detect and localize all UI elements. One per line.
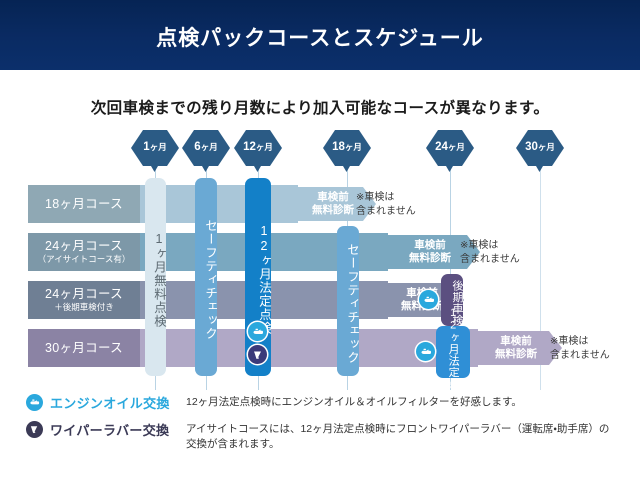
course-note-18m: ※車検は 含まれません — [356, 191, 416, 218]
month-marker-stem-1 — [151, 166, 158, 172]
oil-can-icon-12m — [248, 322, 267, 341]
month-marker-stem-12 — [254, 166, 261, 172]
month-marker-30: 30ヶ月 — [516, 130, 564, 166]
month-marker-stem-24 — [446, 166, 453, 172]
subtitle-text: 次回車検までの残り月数により加入可能なコースが異なります。 — [0, 96, 640, 118]
oil-can-icon-24m — [419, 290, 438, 309]
legend-row-engine-oil: エンジンオイル交換 12ヶ月法定点検時にエンジンオイル＆オイルフィルターを好感し… — [26, 393, 626, 413]
legend-desc-wiper-blade: アイサイトコースには、12ヶ月法定点検時にフロントワイパーラバー（運転席・助手席… — [186, 422, 616, 452]
course-note-30m: ※車検は 含まれません — [550, 335, 610, 362]
pill-24m-statutory-inspection: 12ヶ月法定点検 — [436, 326, 470, 378]
month-marker-stem-30 — [536, 166, 543, 172]
course-row-18m: 18ヶ月コース 車検前 無料診断 ※車検は 含まれません — [28, 185, 618, 223]
pill-1m-free-inspection: 1ヶ月無料点検 — [145, 178, 166, 376]
pill-18m-safety-check: セーフティチェック — [337, 226, 359, 376]
pill-6m-safety-check: セーフティチェック — [195, 178, 217, 376]
month-marker-stem-6 — [202, 166, 209, 172]
course-note-24m-eyesight: ※車検は 含まれません — [460, 239, 520, 266]
course-label-24m-eyesight: 24ヶ月コース （アイサイトコース有） — [28, 233, 140, 271]
infographic-root: 点検パックコースとスケジュール 次回車検までの残り月数により加入可能なコースが異… — [0, 0, 640, 480]
month-marker-18: 18ヶ月 — [323, 130, 371, 166]
legend-desc-engine-oil: 12ヶ月法定点検時にエンジンオイル＆オイルフィルターを好感します。 — [186, 395, 626, 410]
month-marker-12: 12ヶ月 — [234, 130, 282, 166]
oil-can-icon — [26, 394, 43, 411]
oil-can-icon-30m — [416, 342, 435, 361]
course-row-24m-late: 24ヶ月コース ＋後期車検付き 車検前 無料診断 — [28, 281, 618, 319]
course-row-24m-eyesight: 24ヶ月コース （アイサイトコース有） 車検前 無料診断 ※車検は 含まれません — [28, 233, 618, 271]
legend-title-wiper-blade: ワイパーラバー交換 — [50, 420, 169, 439]
legend-title-engine-oil: エンジンオイル交換 — [50, 393, 170, 412]
legend: エンジンオイル交換 12ヶ月法定点検時にエンジンオイル＆オイルフィルターを好感し… — [26, 393, 626, 447]
month-marker-6: 6ヶ月 — [182, 130, 230, 166]
month-marker-24: 24ヶ月 — [426, 130, 474, 166]
wiper-blade-icon-12m — [248, 345, 267, 364]
course-row-30m: 30ヶ月コース 車検前 無料診断 ※車検は 含まれません — [28, 329, 618, 367]
course-label-30m: 30ヶ月コース — [28, 329, 140, 367]
course-label-18m: 18ヶ月コース — [28, 185, 140, 223]
page-title: 点検パックコースとスケジュール — [0, 22, 640, 52]
pre-inspection-arrow-30m: 車検前 無料診断 — [470, 331, 562, 365]
month-marker-1: 1ヶ月 — [131, 130, 179, 166]
wiper-blade-icon — [26, 421, 43, 438]
course-label-24m-late: 24ヶ月コース ＋後期車検付き — [28, 281, 140, 319]
legend-row-wiper-blade: ワイパーラバー交換 アイサイトコースには、12ヶ月法定点検時にフロントワイパーラ… — [26, 420, 626, 440]
schedule-chart: 1ヶ月 6ヶ月 12ヶ月 18ヶ月 24ヶ月 30ヶ月 18ヶ月コース — [0, 130, 640, 380]
month-marker-stem-18 — [343, 166, 350, 172]
header-banner: 点検パックコースとスケジュール — [0, 0, 640, 70]
